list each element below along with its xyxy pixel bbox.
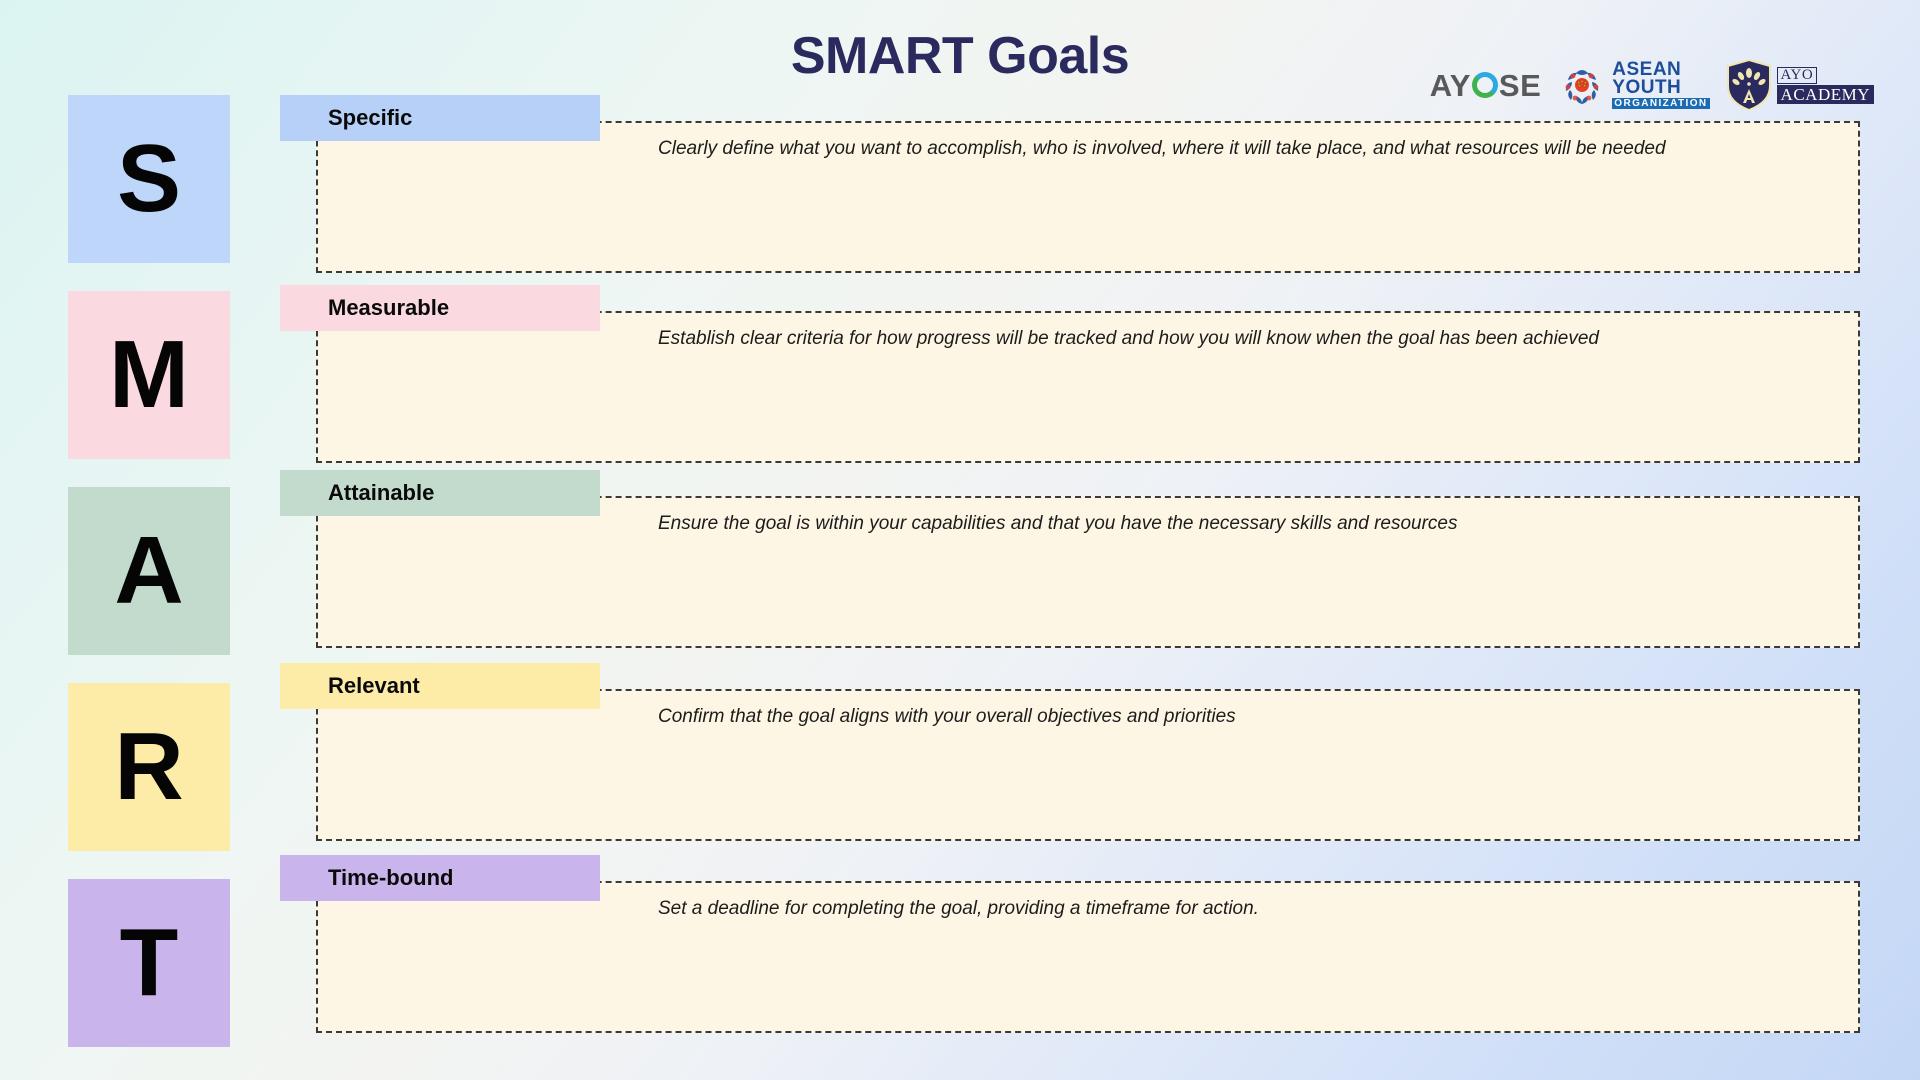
tab-label-time-bound: Time-bound <box>280 865 453 891</box>
tab-label-measurable: Measurable <box>280 295 449 321</box>
goal-rows: Clearly define what you want to accompli… <box>0 0 1920 1080</box>
goal-row-measurable: Establish clear criteria for how progres… <box>280 285 1860 453</box>
answer-box-measurable[interactable]: Establish clear criteria for how progres… <box>316 311 1860 463</box>
goal-row-attainable: Ensure the goal is within your capabilit… <box>280 470 1860 638</box>
tab-attainable[interactable]: Attainable <box>280 470 600 516</box>
answer-box-relevant[interactable]: Confirm that the goal aligns with your o… <box>316 689 1860 841</box>
tab-label-specific: Specific <box>280 105 412 131</box>
tab-label-attainable: Attainable <box>280 480 434 506</box>
tab-specific[interactable]: Specific <box>280 95 600 141</box>
description-attainable: Ensure the goal is within your capabilit… <box>658 512 1838 537</box>
tab-time-bound[interactable]: Time-bound <box>280 855 600 901</box>
answer-box-attainable[interactable]: Ensure the goal is within your capabilit… <box>316 496 1860 648</box>
goal-row-specific: Clearly define what you want to accompli… <box>280 95 1860 263</box>
tab-measurable[interactable]: Measurable <box>280 285 600 331</box>
description-relevant: Confirm that the goal aligns with your o… <box>658 705 1838 730</box>
tab-relevant[interactable]: Relevant <box>280 663 600 709</box>
answer-box-time-bound[interactable]: Set a deadline for completing the goal, … <box>316 881 1860 1033</box>
description-time-bound: Set a deadline for completing the goal, … <box>658 897 1838 922</box>
tab-label-relevant: Relevant <box>280 673 420 699</box>
goal-row-relevant: Confirm that the goal aligns with your o… <box>280 663 1860 831</box>
description-specific: Clearly define what you want to accompli… <box>658 137 1838 162</box>
description-measurable: Establish clear criteria for how progres… <box>658 327 1838 352</box>
goal-row-time-bound: Set a deadline for completing the goal, … <box>280 855 1860 1023</box>
answer-box-specific[interactable]: Clearly define what you want to accompli… <box>316 121 1860 273</box>
